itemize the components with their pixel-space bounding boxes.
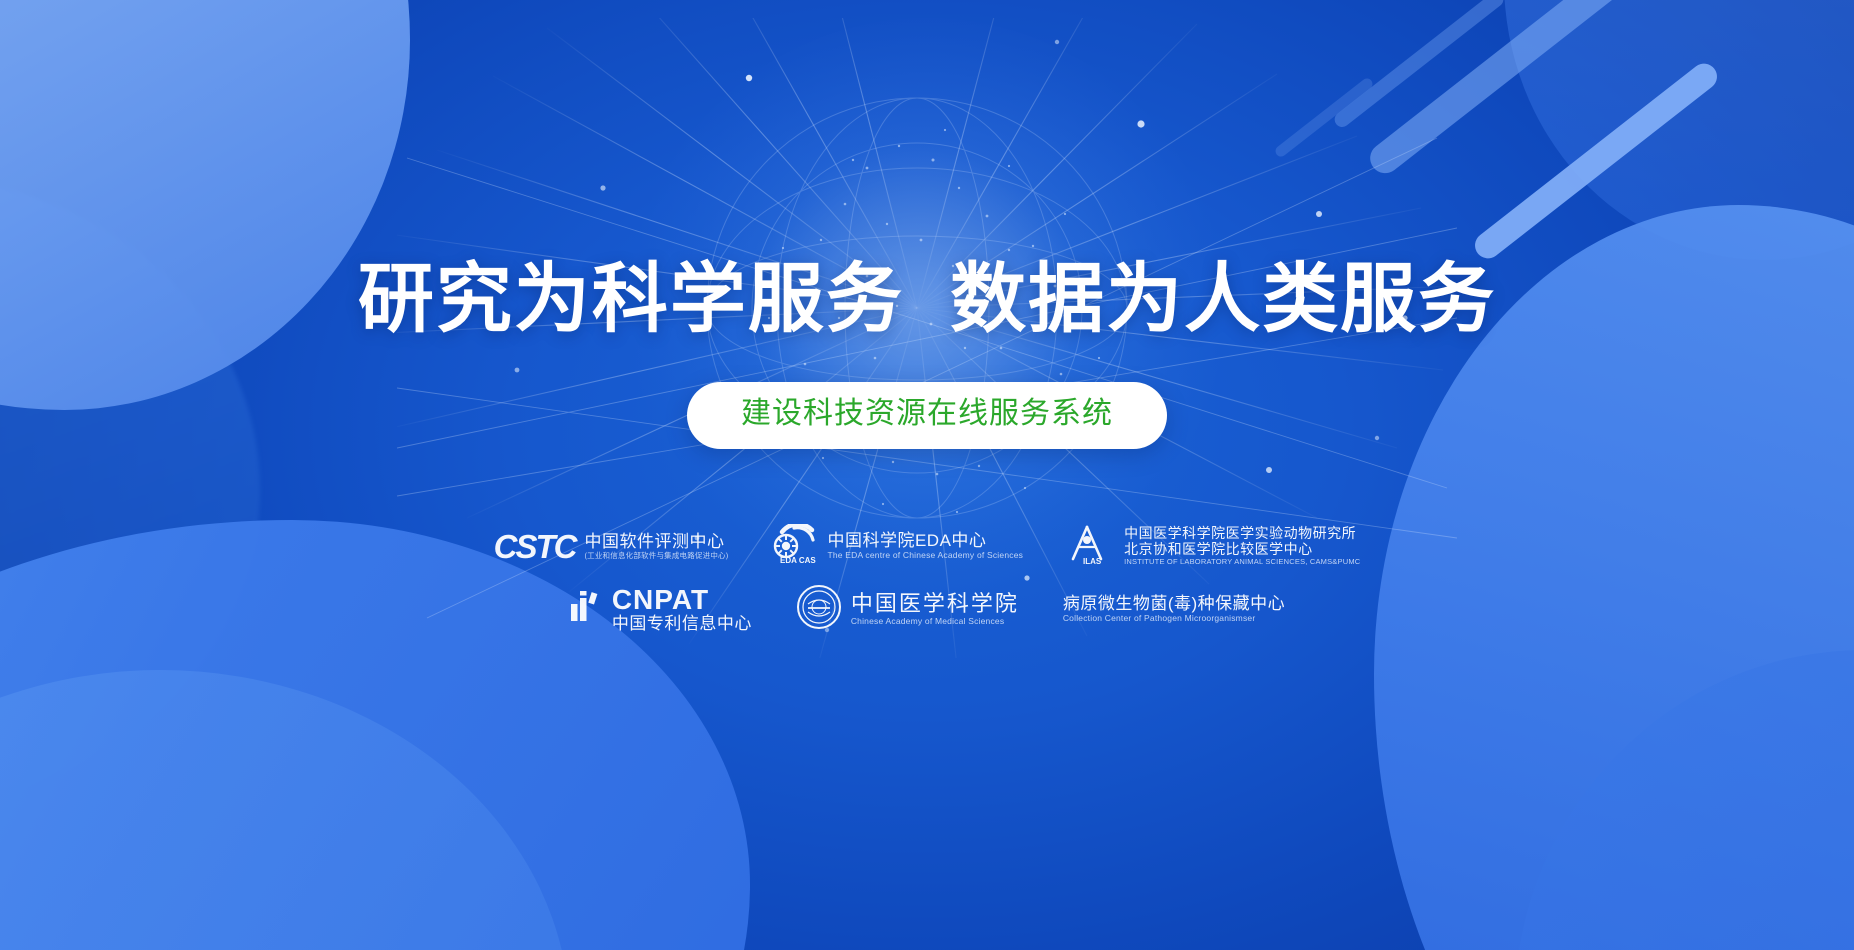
partner-logos: CSTC 中国软件评测中心 (工业和信息化部软件与集成电路促进中心) bbox=[0, 523, 1854, 635]
partner-logo-eda-cas[interactable]: EDA CAS 中国科学院EDA中心 The EDA centre of Chi… bbox=[772, 524, 1023, 569]
ilas-name-cn2: 北京协和医学院比较医学中心 bbox=[1124, 541, 1360, 557]
ilas-logo-icon: ILAS bbox=[1067, 523, 1115, 570]
cnpat-wordmark: CNPAT bbox=[612, 585, 752, 614]
pathogen-center-name-en: Collection Center of Pathogen Microorgan… bbox=[1063, 613, 1285, 624]
partner-logo-cstc[interactable]: CSTC 中国软件评测中心 (工业和信息化部软件与集成电路促进中心) bbox=[494, 530, 729, 563]
banner-content: 研究为科学服务 数据为人类服务 建设科技资源在线服务系统 CSTC 中国软件评测… bbox=[0, 0, 1854, 950]
eda-cas-name-en: The EDA centre of Chinese Academy of Sci… bbox=[827, 550, 1023, 561]
ilas-name-en: INSTITUTE OF LABORATORY ANIMAL SCIENCES,… bbox=[1124, 557, 1360, 566]
ilas-name-cn: 中国医学科学院医学实验动物研究所 bbox=[1124, 525, 1360, 541]
cams-name-cn: 中国医学科学院 bbox=[851, 591, 1019, 616]
partner-logo-cnpat[interactable]: CNPAT 中国专利信息中心 bbox=[569, 585, 752, 634]
page-title: 研究为科学服务 数据为人类服务 bbox=[358, 262, 1496, 338]
partner-logo-pathogen-center[interactable]: 病原微生物菌(毒)种保藏中心 Collection Center of Path… bbox=[1063, 594, 1285, 624]
partner-logo-row-1: CSTC 中国软件评测中心 (工业和信息化部软件与集成电路促进中心) bbox=[494, 523, 1361, 570]
cstc-name-cn: 中国软件评测中心 bbox=[584, 532, 728, 552]
partner-logo-cams[interactable]: 中国医学科学院 Chinese Academy of Medical Scien… bbox=[796, 584, 1019, 635]
eda-cas-logo-icon: EDA CAS bbox=[772, 524, 818, 569]
svg-text:EDA CAS: EDA CAS bbox=[780, 556, 816, 564]
build-service-system-button[interactable]: 建设科技资源在线服务系统 bbox=[687, 382, 1167, 449]
cams-name-en: Chinese Academy of Medical Sciences bbox=[851, 616, 1019, 627]
partner-logo-ilas[interactable]: ILAS 中国医学科学院医学实验动物研究所 北京协和医学院比较医学中心 INST… bbox=[1067, 523, 1360, 570]
pathogen-center-name-cn: 病原微生物菌(毒)种保藏中心 bbox=[1063, 594, 1285, 614]
cnpat-logo-icon bbox=[569, 591, 603, 628]
svg-text:ILAS: ILAS bbox=[1083, 557, 1102, 565]
partner-logo-row-2: CNPAT 中国专利信息中心 bbox=[569, 584, 1285, 635]
cstc-wordmark-icon: CSTC bbox=[494, 530, 576, 563]
cstc-name-sub: (工业和信息化部软件与集成电路促进中心) bbox=[584, 551, 728, 560]
cnpat-name-cn: 中国专利信息中心 bbox=[612, 614, 752, 634]
eda-cas-name-cn: 中国科学院EDA中心 bbox=[827, 531, 1023, 551]
cams-seal-icon bbox=[796, 584, 842, 635]
hero-banner: 研究为科学服务 数据为人类服务 建设科技资源在线服务系统 CSTC 中国软件评测… bbox=[0, 0, 1854, 950]
